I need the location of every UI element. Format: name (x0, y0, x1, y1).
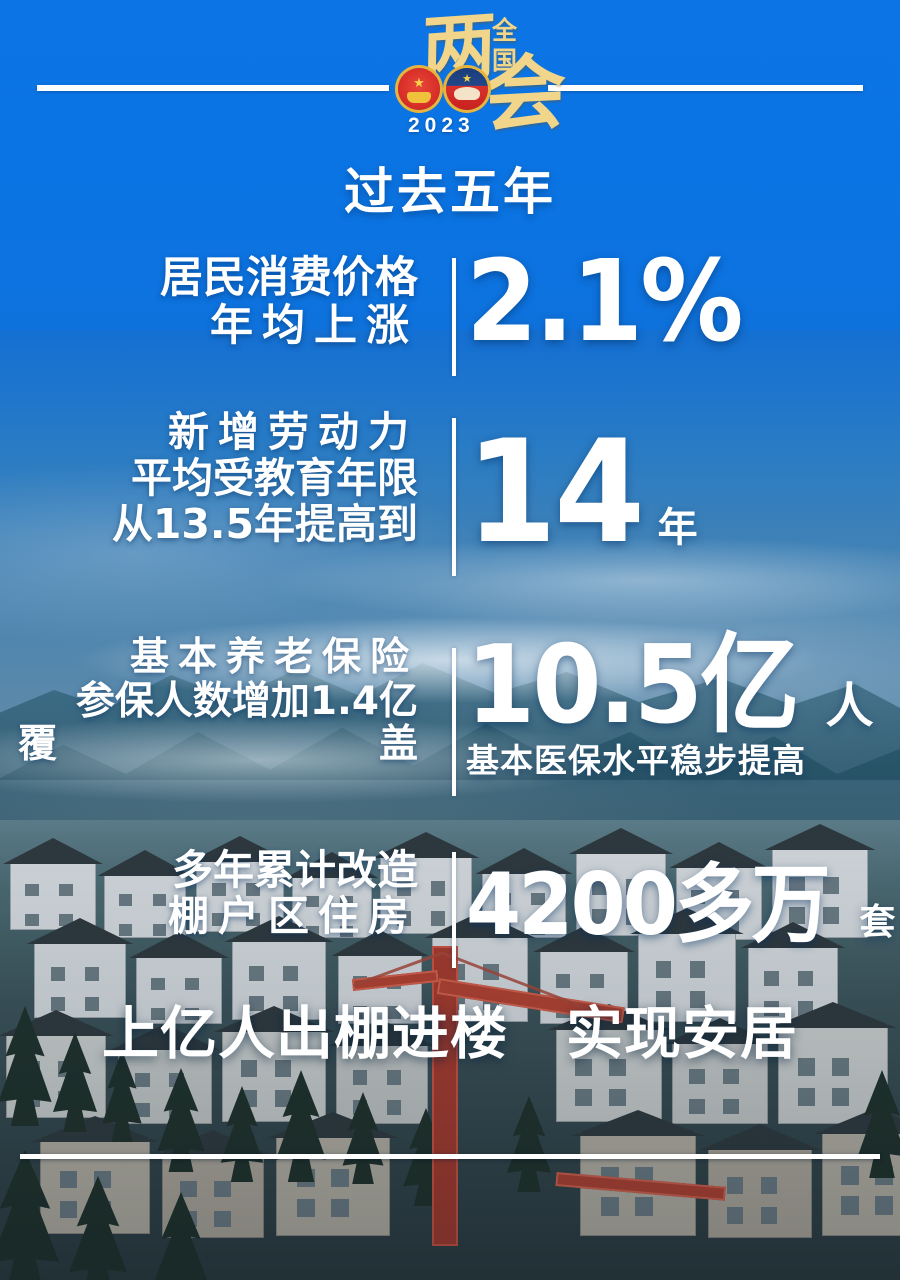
page-title: 过去五年 (0, 152, 900, 224)
stat-label-line-spread: 覆 盖 (0, 723, 418, 767)
lianghui-logo: 全 国 两 会 2023 (380, 14, 580, 144)
infographic-poster: 全 国 两 会 2023 过去五年 居民消费价格 年均上涨 2.1% (0, 0, 900, 1280)
stat-unit: 人 (825, 682, 873, 730)
national-emblem-icon (398, 68, 440, 110)
stat-value: 4200多万 (466, 862, 828, 948)
stat-label-education: 新增劳动力 平均受教育年限 从13.5年提高到 (0, 410, 440, 548)
stat-label-line: 多年累计改造 (0, 848, 418, 894)
stat-value-education: 14年 (466, 422, 900, 564)
stat-label-line: 棚户区住房 (0, 894, 418, 940)
stat-unit: 套 (859, 905, 895, 941)
stat-label-pension: 基本养老保险 参保人数增加1.4亿 覆 盖 (0, 636, 440, 767)
stat-divider (452, 418, 456, 576)
header-rule-left (37, 85, 389, 91)
stat-subtext: 基本医保水平稳步提高 (466, 744, 900, 777)
stat-label-spread-right: 盖 (379, 723, 418, 767)
stat-value: 14 (466, 422, 642, 564)
stat-row-pension: 基本养老保险 参保人数增加1.4亿 覆 盖 10.5亿人 基本医保水平稳步提高 (0, 636, 900, 811)
logo-char-hui: 会 (483, 52, 566, 138)
stat-divider (452, 648, 456, 796)
stat-row-cpi: 居民消费价格 年均上涨 2.1% (0, 246, 900, 396)
poster-header: 全 国 两 会 2023 (0, 0, 900, 150)
stat-row-housing: 多年累计改造 棚户区住房 4200多万套 (0, 840, 900, 985)
stat-label-line: 居民消费价格 (0, 254, 418, 302)
stat-label-cpi: 居民消费价格 年均上涨 (0, 254, 440, 350)
stat-label-line: 平均受教育年限 (0, 456, 418, 502)
cppcc-emblem-icon (446, 68, 488, 110)
stat-label-line: 基本养老保险 (0, 636, 418, 680)
stat-unit: 年 (658, 508, 698, 548)
logo-year: 2023 (408, 114, 475, 138)
stat-label-line: 参保人数增加1.4亿 (0, 680, 418, 724)
stat-value-pension: 10.5亿人 基本医保水平稳步提高 (466, 632, 900, 777)
header-rule-right (548, 85, 863, 91)
stat-row-education: 新增劳动力 平均受教育年限 从13.5年提高到 14年 (0, 406, 900, 596)
stat-label-housing: 多年累计改造 棚户区住房 (0, 848, 440, 940)
stat-label-line: 新增劳动力 (0, 410, 418, 456)
stat-value: 2.1% (466, 246, 741, 358)
stat-value: 10.5亿 (466, 632, 797, 740)
footer-rule (20, 1154, 880, 1159)
stat-value-housing: 4200多万套 (466, 862, 900, 948)
stat-label-line: 年均上涨 (0, 302, 418, 350)
stat-value-cpi: 2.1% (466, 246, 900, 358)
stat-divider (452, 258, 456, 376)
poster-tagline: 上亿人出棚进楼 实现安居 (0, 988, 900, 1070)
stat-label-line: 从13.5年提高到 (0, 502, 418, 548)
stat-label-spread-left: 覆 (18, 723, 57, 767)
stat-divider (452, 852, 456, 968)
